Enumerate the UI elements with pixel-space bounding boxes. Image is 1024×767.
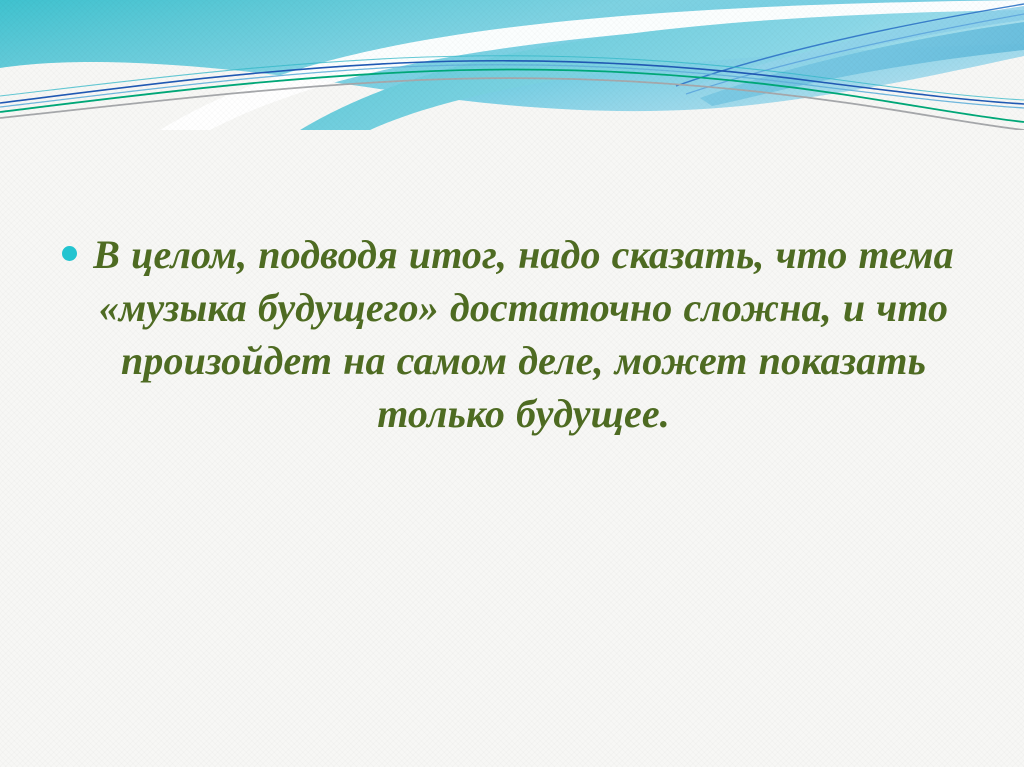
bullet-list-item: В целом, подводя итог, надо сказать, что… — [62, 228, 962, 440]
slide-content: В целом, подводя итог, надо сказать, что… — [0, 0, 1024, 767]
bullet-paragraph-text: В целом, подводя итог, надо сказать, что… — [85, 228, 962, 440]
bullet-dot-icon — [62, 246, 77, 261]
presentation-slide: В целом, подводя итог, надо сказать, что… — [0, 0, 1024, 767]
